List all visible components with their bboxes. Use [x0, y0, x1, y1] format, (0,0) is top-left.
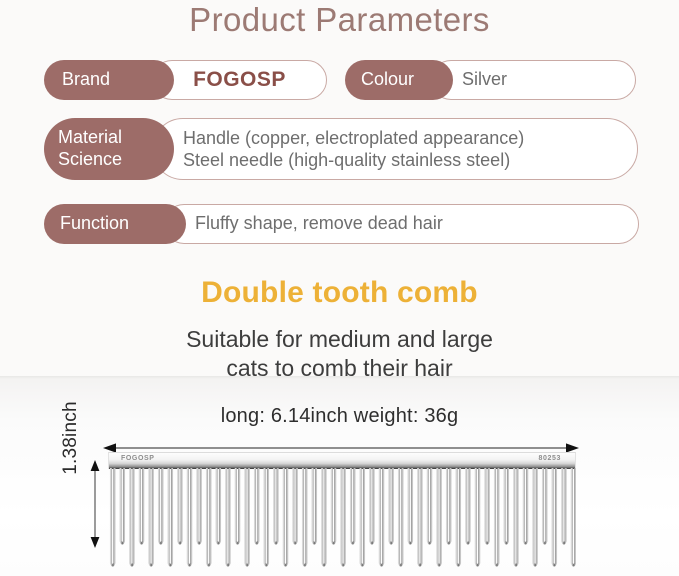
spec-label-function-line-1: Function	[60, 213, 129, 234]
spec-value-colour-line-1: Silver	[462, 69, 507, 91]
height-dimension-arrow-icon	[88, 460, 102, 548]
dimension-caption: long: 6.14inch weight: 36g	[0, 405, 679, 428]
spec-value-material-science: Handle (copper, electroplated appearance…	[152, 118, 638, 180]
page-title: Product Parameters	[0, 1, 679, 39]
promo-subhead-line-1: Suitable for medium and large	[0, 325, 679, 354]
comb-spine-brand-engraving: FOGOSP	[121, 455, 155, 462]
comb-teeth	[108, 468, 576, 572]
spec-label-colour: Colour	[345, 60, 453, 100]
spec-row-material-science: Material Science Handle (copper, electro…	[44, 118, 638, 180]
spec-label-material-science: Material Science	[44, 118, 174, 180]
spec-label-function: Function	[44, 204, 186, 244]
spec-label-brand: Brand	[44, 60, 174, 100]
spec-value-colour: Silver	[431, 60, 636, 100]
spec-row-brand: Brand FOGOSP	[44, 60, 327, 100]
promo-subhead: Suitable for medium and large cats to co…	[0, 325, 679, 383]
spec-value-function: Fluffy shape, remove dead hair	[164, 204, 639, 244]
spec-value-material-line-1: Handle (copper, electroplated appearance…	[183, 127, 524, 150]
spec-value-brand: FOGOSP	[152, 60, 327, 100]
spec-row-function: Function Fluffy shape, remove dead hair	[44, 204, 639, 244]
spec-value-function-line-1: Fluffy shape, remove dead hair	[195, 213, 443, 235]
spec-row-colour: Colour Silver	[345, 60, 636, 100]
comb-product-image: FOGOSP 80253	[108, 452, 576, 572]
spec-value-material-line-2: Steel needle (high-quality stainless ste…	[183, 149, 510, 172]
product-photo-band: long: 6.14inch weight: 36g 1.38inch FOGO…	[0, 376, 679, 576]
product-infographic: Product Parameters Brand FOGOSP Colour S…	[0, 0, 679, 576]
comb-handle-bar: FOGOSP 80253	[108, 452, 576, 469]
spec-label-material-line-2: Science	[58, 149, 122, 171]
comb-spine-model-engraving: 80253	[539, 455, 561, 462]
promo-headline: Double tooth comb	[0, 276, 679, 310]
brand-logo-text: FOGOSP	[193, 67, 286, 93]
spec-label-material-line-1: Material	[58, 127, 122, 149]
height-dimension-label: 1.38inch	[60, 393, 84, 483]
spec-label-colour-line-1: Colour	[361, 69, 414, 90]
spec-label-brand-line-1: Brand	[62, 69, 110, 90]
